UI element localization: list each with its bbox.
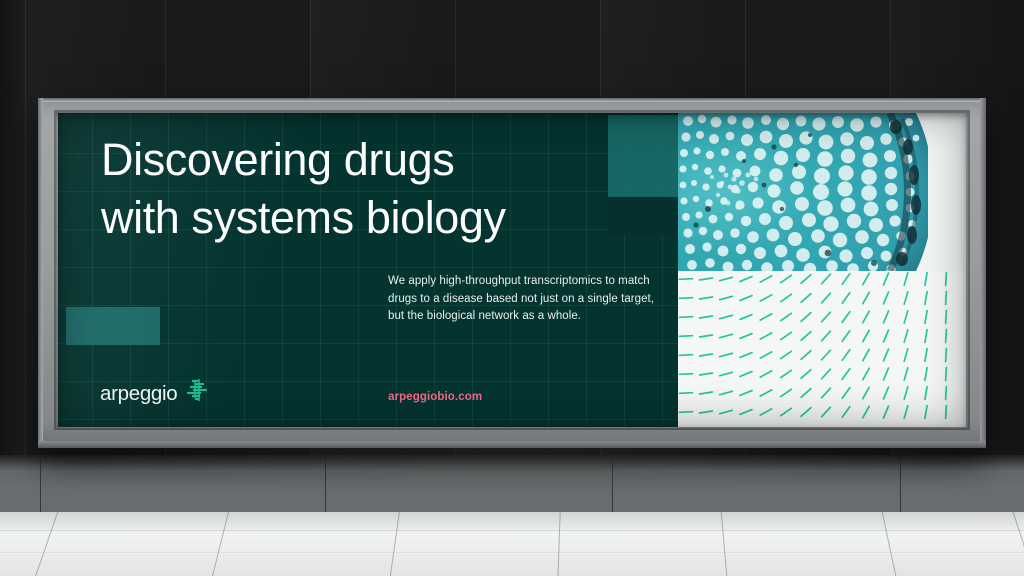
frame-bevel-top: [38, 98, 986, 102]
baseboard-seam: [325, 457, 326, 515]
baseboard-shadow: [0, 455, 1024, 471]
billboard[interactable]: Discovering drugs with systems biology W…: [38, 98, 986, 448]
baseboard-seam: [612, 457, 613, 515]
floor-grout-line: [0, 552, 1024, 553]
frame-inner-shadow: [56, 112, 968, 428]
wall-left-column: [0, 0, 25, 470]
billboard-scene: Discovering drugs with systems biology W…: [0, 0, 1024, 576]
floor-grout-line: [0, 530, 1024, 531]
tiled-floor: [0, 512, 1024, 576]
baseboard-seam: [900, 457, 901, 515]
frame-bevel-left: [38, 98, 43, 448]
frame-bevel-right: [980, 98, 986, 448]
frame-bevel-bottom: [38, 441, 986, 448]
baseboard-seam: [40, 457, 41, 515]
